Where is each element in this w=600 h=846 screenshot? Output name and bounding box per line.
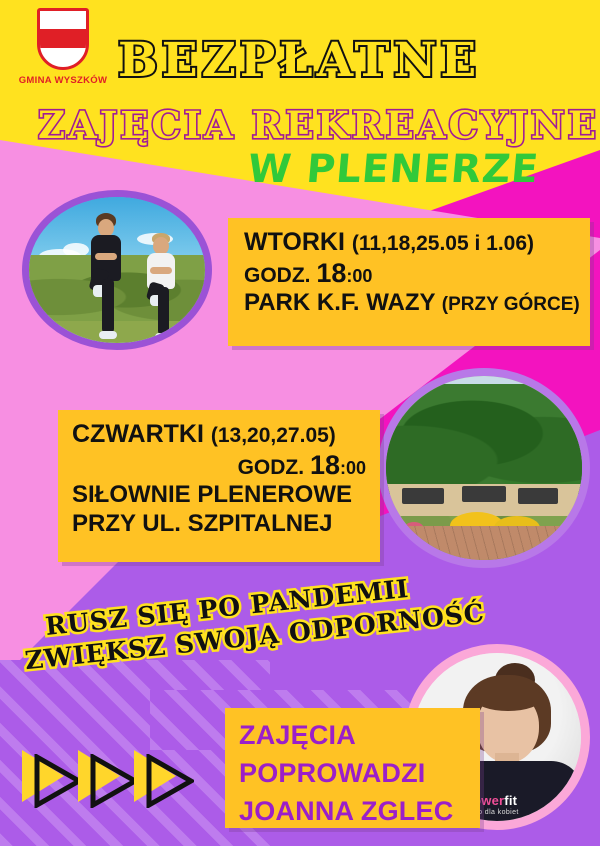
session-time-line: GODZ. 18:00: [72, 450, 366, 482]
session-time-line: GODZ. 18:00: [244, 258, 582, 290]
play-triangle-outline-icon: [34, 754, 82, 808]
outdoor-stretching-photo: [22, 190, 212, 350]
bench-shape: [402, 488, 444, 504]
play-triangles-group: [22, 748, 202, 818]
session-place-note: (PRZY GÓRCE): [442, 294, 580, 315]
instructor-line-2: POPROWADZI: [239, 755, 480, 793]
title-line-2: ZAJĘCIA REKREACYJNE: [38, 103, 599, 147]
poster-root: GMINA WYSZKÓW BEZPŁATNE ZAJĘCIA REKREACY…: [0, 0, 600, 846]
instructor-card: ZAJĘCIA POPROWADZI JOANNA ZGLEC: [225, 708, 480, 828]
hour-value: 18: [310, 450, 340, 480]
instructor-line-1: ZAJĘCIA: [239, 717, 480, 755]
instructor-line-3: JOANNA ZGLEC: [239, 793, 480, 831]
crest-band: [40, 29, 86, 48]
bench-shape: [462, 486, 506, 502]
play-triangle-outline-icon: [146, 754, 194, 808]
minutes-value: :00: [340, 458, 366, 478]
park-benches-flowers-photo: [378, 368, 590, 568]
session-card-thursday: CZWARTKI (13,20,27.05) GODZ. 18:00 SIŁOW…: [58, 410, 380, 562]
shield-crest-icon: [37, 8, 89, 70]
brick-path-shape: [386, 526, 582, 560]
person-figure-left: [85, 213, 127, 350]
hour-label: GODZ.: [238, 456, 305, 479]
session-place-line: PARK K.F. WAZY (PRZY GÓRCE): [244, 289, 582, 317]
session-place-line-2: PRZY UL. SZPITALNEJ: [72, 510, 366, 538]
trees-shape: [378, 384, 590, 494]
session-day-line: WTORKI (11,18,25.05 i 1.06): [244, 228, 582, 258]
session-card-tuesday: WTORKI (11,18,25.05 i 1.06) GODZ. 18:00 …: [228, 218, 590, 346]
municipality-logo: GMINA WYSZKÓW: [18, 8, 108, 86]
hour-label: GODZ.: [244, 264, 311, 287]
session-dates: (13,20,27.05): [211, 424, 336, 447]
title-line-1: BEZPŁATNE: [118, 33, 480, 88]
session-dates: (11,18,25.05 i 1.06): [352, 232, 534, 255]
session-place-line-1: SIŁOWNIE PLENEROWE: [72, 481, 366, 509]
session-place: PARK K.F. WAZY: [244, 289, 435, 316]
play-triangle-2: [78, 748, 134, 810]
play-triangle-3: [134, 748, 190, 810]
play-triangle-1: [22, 748, 78, 810]
session-day: CZWARTKI: [72, 420, 204, 448]
minutes-value: :00: [346, 266, 372, 286]
play-triangle-outline-icon: [90, 754, 138, 808]
person-figure-right: [141, 233, 181, 350]
title-line-3: W PLENERZE: [246, 147, 541, 192]
fringe-shape: [475, 687, 541, 711]
session-day: WTORKI: [244, 228, 345, 256]
bench-shape: [518, 488, 558, 504]
shirt-logo-fit: fit: [504, 793, 517, 808]
crest-label: GMINA WYSZKÓW: [18, 75, 108, 86]
session-day-line: CZWARTKI (13,20,27.05): [72, 420, 366, 450]
hour-value: 18: [316, 258, 346, 288]
